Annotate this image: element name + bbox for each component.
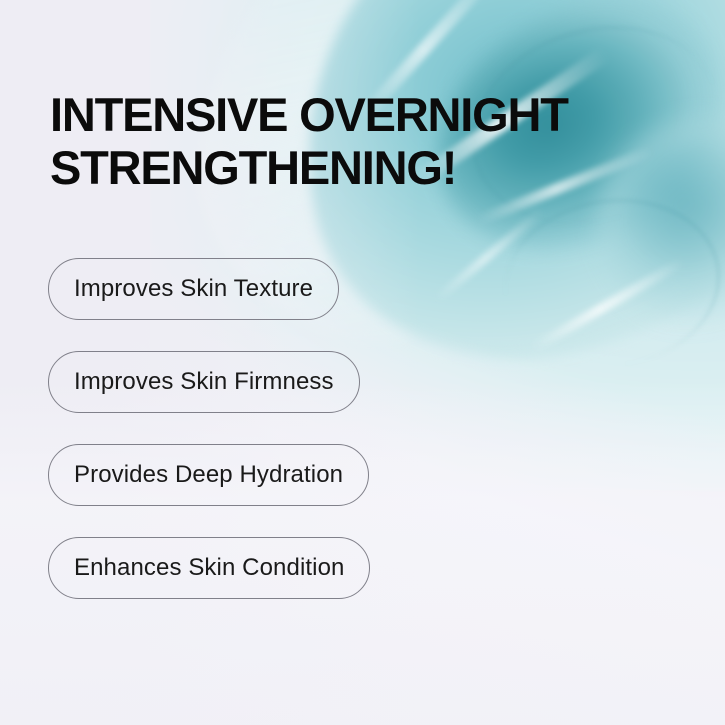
headline-line-1: INTENSIVE OVERNIGHT <box>50 88 650 141</box>
benefit-pill-skin-condition[interactable]: Enhances Skin Condition <box>48 537 370 599</box>
benefit-pill-skin-firmness[interactable]: Improves Skin Firmness <box>48 351 360 413</box>
benefit-pill-deep-hydration[interactable]: Provides Deep Hydration <box>48 444 369 506</box>
benefit-pill-skin-texture[interactable]: Improves Skin Texture <box>48 258 339 320</box>
page-title: INTENSIVE OVERNIGHT STRENGTHENING! <box>50 88 650 194</box>
benefit-label: Provides Deep Hydration <box>74 461 343 489</box>
benefit-label: Improves Skin Texture <box>74 275 313 303</box>
benefit-label: Improves Skin Firmness <box>74 368 334 396</box>
benefits-list: Improves Skin Texture Improves Skin Firm… <box>48 258 370 599</box>
product-benefits-banner: INTENSIVE OVERNIGHT STRENGTHENING! Impro… <box>0 0 725 725</box>
banner-content: INTENSIVE OVERNIGHT STRENGTHENING! Impro… <box>0 0 725 725</box>
benefit-label: Enhances Skin Condition <box>74 554 344 582</box>
headline-line-2: STRENGTHENING! <box>50 141 650 194</box>
